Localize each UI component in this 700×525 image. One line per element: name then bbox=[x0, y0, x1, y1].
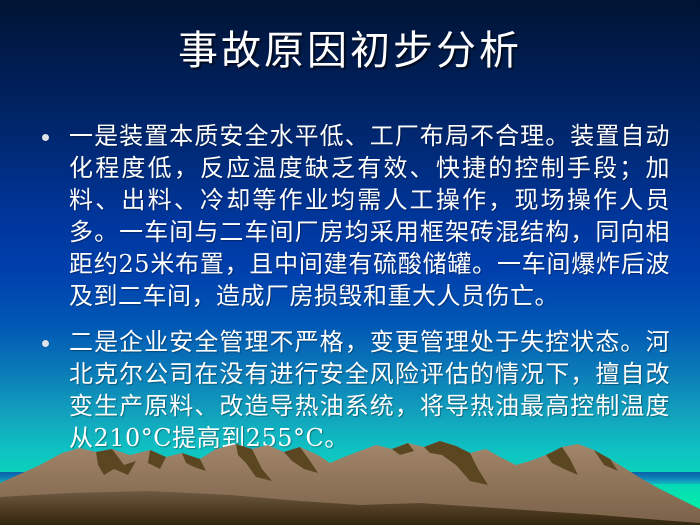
bullet-dot-icon bbox=[42, 340, 49, 347]
bullet-item: 一是装置本质安全水平低、工厂布局不合理。装置自动化程度低，反应温度缺乏有效、快捷… bbox=[30, 120, 670, 312]
mountain-range-illustration bbox=[0, 435, 700, 525]
bullet-dot-icon bbox=[42, 134, 49, 141]
bullet-text: 一是装置本质安全水平低、工厂布局不合理。装置自动化程度低，反应温度缺乏有效、快捷… bbox=[69, 120, 670, 312]
slide-title: 事故原因初步分析 bbox=[0, 26, 700, 76]
presentation-slide: 事故原因初步分析 一是装置本质安全水平低、工厂布局不合理。装置自动化程度低，反应… bbox=[0, 0, 700, 525]
slide-body: 一是装置本质安全水平低、工厂布局不合理。装置自动化程度低，反应温度缺乏有效、快捷… bbox=[30, 120, 670, 468]
